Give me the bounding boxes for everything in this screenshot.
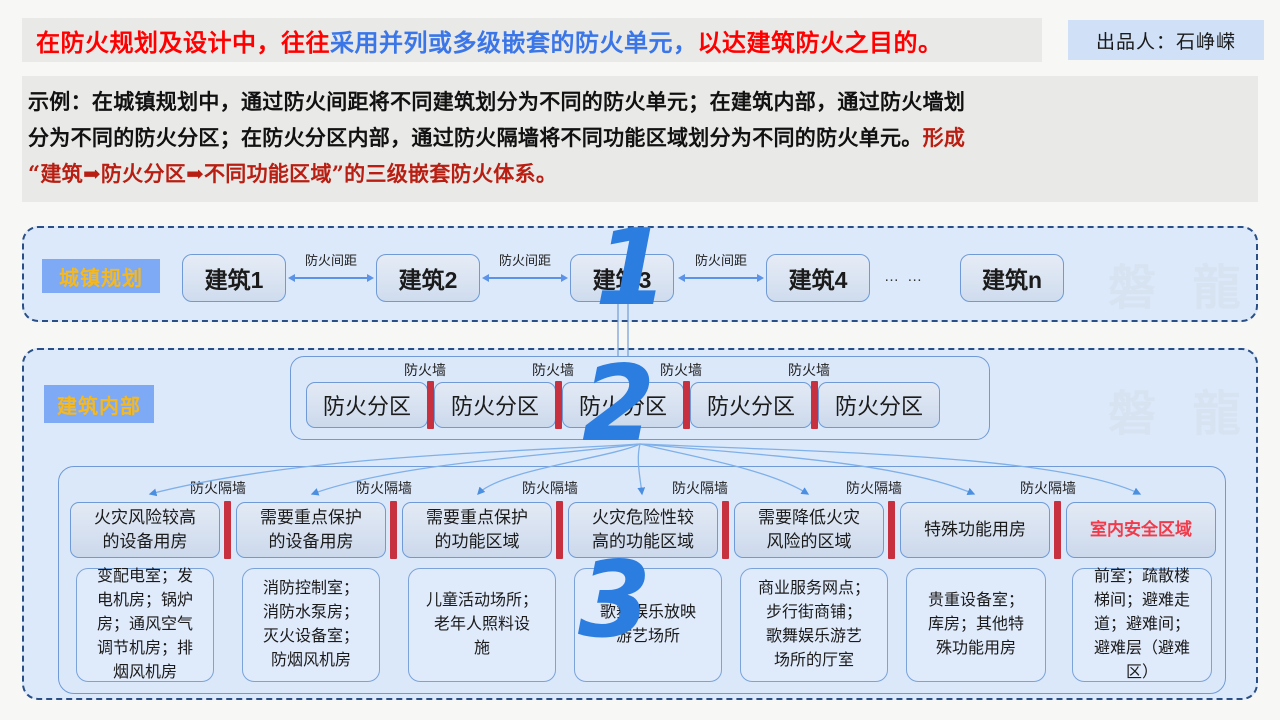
partition-bar-6: [1054, 501, 1061, 559]
building-box-3[interactable]: 建筑3: [570, 254, 674, 302]
detail-box-4: 歌舞娱乐放映游艺场所: [574, 568, 722, 682]
author-badge: 出品人：石峥嵘: [1068, 20, 1264, 60]
partition-label-3: 防火隔墙: [522, 478, 578, 498]
partition-label-5: 防火隔墙: [846, 478, 902, 498]
building-box-4[interactable]: 建筑4: [766, 254, 870, 302]
description-line-2: 分为不同的防火分区；在防火分区内部，通过防火隔墙将不同功能区域划分为不同的防火单…: [28, 120, 1252, 156]
firewall-bar-2: [555, 381, 562, 429]
gap-arrow-2: [488, 277, 562, 279]
detail-box-5: 商业服务网点；步行街商铺；歌舞娱乐游艺场所的厅室: [740, 568, 888, 682]
building-box-2[interactable]: 建筑2: [376, 254, 480, 302]
gap-label-3: 防火间距: [684, 250, 758, 269]
description-panel: 示例：在城镇规划中，通过防火间距将不同建筑划分为不同的防火单元；在建筑内部，通过…: [22, 76, 1258, 202]
firewall-label-4: 防火墙: [788, 360, 830, 380]
category-box-4[interactable]: 火灾危险性较高的功能区域: [568, 502, 718, 558]
partition-label-1: 防火隔墙: [190, 478, 246, 498]
detail-box-1: 变配电室；发电机房；锅炉房；通风空气调节机房；排烟风机房: [76, 568, 214, 682]
gap-label-1: 防火间距: [294, 250, 368, 269]
fire-zone-box-3[interactable]: 防火分区: [562, 382, 684, 428]
title-segment-red-1: 在防火规划及设计中，往往: [36, 30, 330, 57]
partition-bar-1: [224, 501, 231, 559]
firewall-label-1: 防火墙: [404, 360, 446, 380]
description-line-3: “建筑➡防火分区➡不同功能区域”的三级嵌套防火体系。: [28, 156, 1252, 192]
category-box-5[interactable]: 需要降低火灾风险的区域: [734, 502, 884, 558]
building-box-5[interactable]: 建筑n: [960, 254, 1064, 302]
tier2-tag-label: 建筑内部: [44, 385, 154, 423]
description-line-2-text: 分为不同的防火分区；在防火分区内部，通过防火隔墙将不同功能区域划分为不同的防火单…: [28, 125, 923, 150]
description-line-2-highlight: 形成: [923, 125, 966, 150]
fire-zone-box-2[interactable]: 防火分区: [434, 382, 556, 428]
partition-bar-3: [556, 501, 563, 559]
partition-bar-2: [390, 501, 397, 559]
title-segment-blue: 采用并列或多级嵌套的防火单元，: [330, 30, 698, 57]
fire-zone-box-4[interactable]: 防火分区: [690, 382, 812, 428]
category-box-3[interactable]: 需要重点保护的功能区域: [402, 502, 552, 558]
description-line-3-text: “建筑➡防火分区➡不同功能区域”的三级嵌套防火体系。: [28, 161, 557, 186]
fire-zone-box-1[interactable]: 防火分区: [306, 382, 428, 428]
header-banner: 在防火规划及设计中，往往采用并列或多级嵌套的防火单元，以达建筑防火之目的。: [22, 18, 1042, 62]
gap-label-2: 防火间距: [488, 250, 562, 269]
category-box-6[interactable]: 特殊功能用房: [900, 502, 1050, 558]
firewall-bar-1: [427, 381, 434, 429]
building-box-1[interactable]: 建筑1: [182, 254, 286, 302]
page-title: 在防火规划及设计中，往往采用并列或多级嵌套的防火单元，以达建筑防火之目的。: [22, 23, 943, 58]
firewall-bar-4: [811, 381, 818, 429]
detail-box-6: 贵重设备室；库房；其他特殊功能用房: [906, 568, 1046, 682]
detail-box-2: 消防控制室；消防水泵房；灭火设备室；防烟风机房: [242, 568, 380, 682]
category-box-1[interactable]: 火灾风险较高的设备用房: [70, 502, 220, 558]
partition-bar-5: [888, 501, 895, 559]
category-box-7[interactable]: 室内安全区域: [1066, 502, 1216, 558]
tier1-tag-label: 城镇规划: [42, 259, 160, 293]
partition-label-2: 防火隔墙: [356, 478, 412, 498]
partition-label-6: 防火隔墙: [1020, 478, 1076, 498]
description-line-1: 示例：在城镇规划中，通过防火间距将不同建筑划分为不同的防火单元；在建筑内部，通过…: [28, 84, 1252, 120]
partition-bar-4: [722, 501, 729, 559]
partition-label-4: 防火隔墙: [672, 478, 728, 498]
gap-arrow-1: [294, 277, 368, 279]
category-box-2[interactable]: 需要重点保护的设备用房: [236, 502, 386, 558]
firewall-label-3: 防火墙: [660, 360, 702, 380]
buildings-ellipsis: … …: [884, 268, 924, 285]
firewall-label-2: 防火墙: [532, 360, 574, 380]
firewall-bar-3: [683, 381, 690, 429]
fire-zone-box-5[interactable]: 防火分区: [818, 382, 940, 428]
detail-box-3: 儿童活动场所；老年人照料设施: [408, 568, 556, 682]
gap-arrow-3: [684, 277, 758, 279]
description-line-1-text: 示例：在城镇规划中，通过防火间距将不同建筑划分为不同的防火单元；在建筑内部，通过…: [28, 89, 965, 114]
detail-box-7: 前室；疏散楼梯间；避难走道；避难间；避难层（避难区）: [1072, 568, 1212, 682]
title-segment-red-2: 以达建筑防火之目的。: [698, 30, 943, 57]
